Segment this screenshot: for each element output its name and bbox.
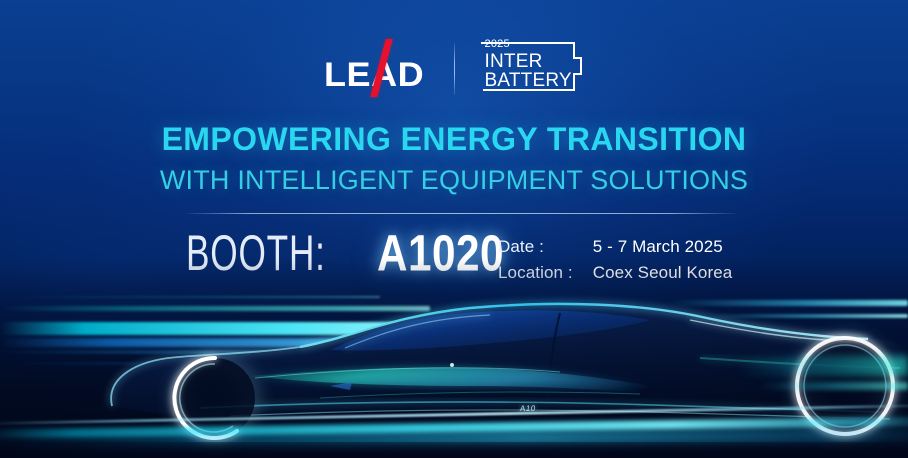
headline-primary: EMPOWERING ENERGY TRANSITION [0,122,908,157]
date-label: Date : [498,237,573,257]
headline-block: EMPOWERING ENERGY TRANSITION WITH INTELL… [0,122,908,195]
interbattery-line1: INTER [485,52,572,71]
interbattery-name: INTER BATTERY [485,52,572,91]
interbattery-year: 2025 [485,39,510,50]
interbattery-logo: 2025 INTER BATTERY [481,40,585,98]
event-promo-banner: LEAD 2025 INTER BATTERY EMPOWERING ENERG… [0,0,908,458]
logo-row: LEAD 2025 INTER BATTERY [0,40,908,98]
interbattery-line2: BATTERY [485,71,572,90]
horizontal-divider [186,213,736,214]
date-value: 5 - 7 March 2025 [593,237,733,257]
lead-logo: LEAD [324,43,428,95]
car-scene: A10 [0,258,908,458]
vertical-divider-icon [454,43,455,95]
ground-shadow [0,442,908,458]
headline-secondary: WITH INTELLIGENT EQUIPMENT SOLUTIONS [0,166,908,196]
ground-reflection [0,388,908,458]
